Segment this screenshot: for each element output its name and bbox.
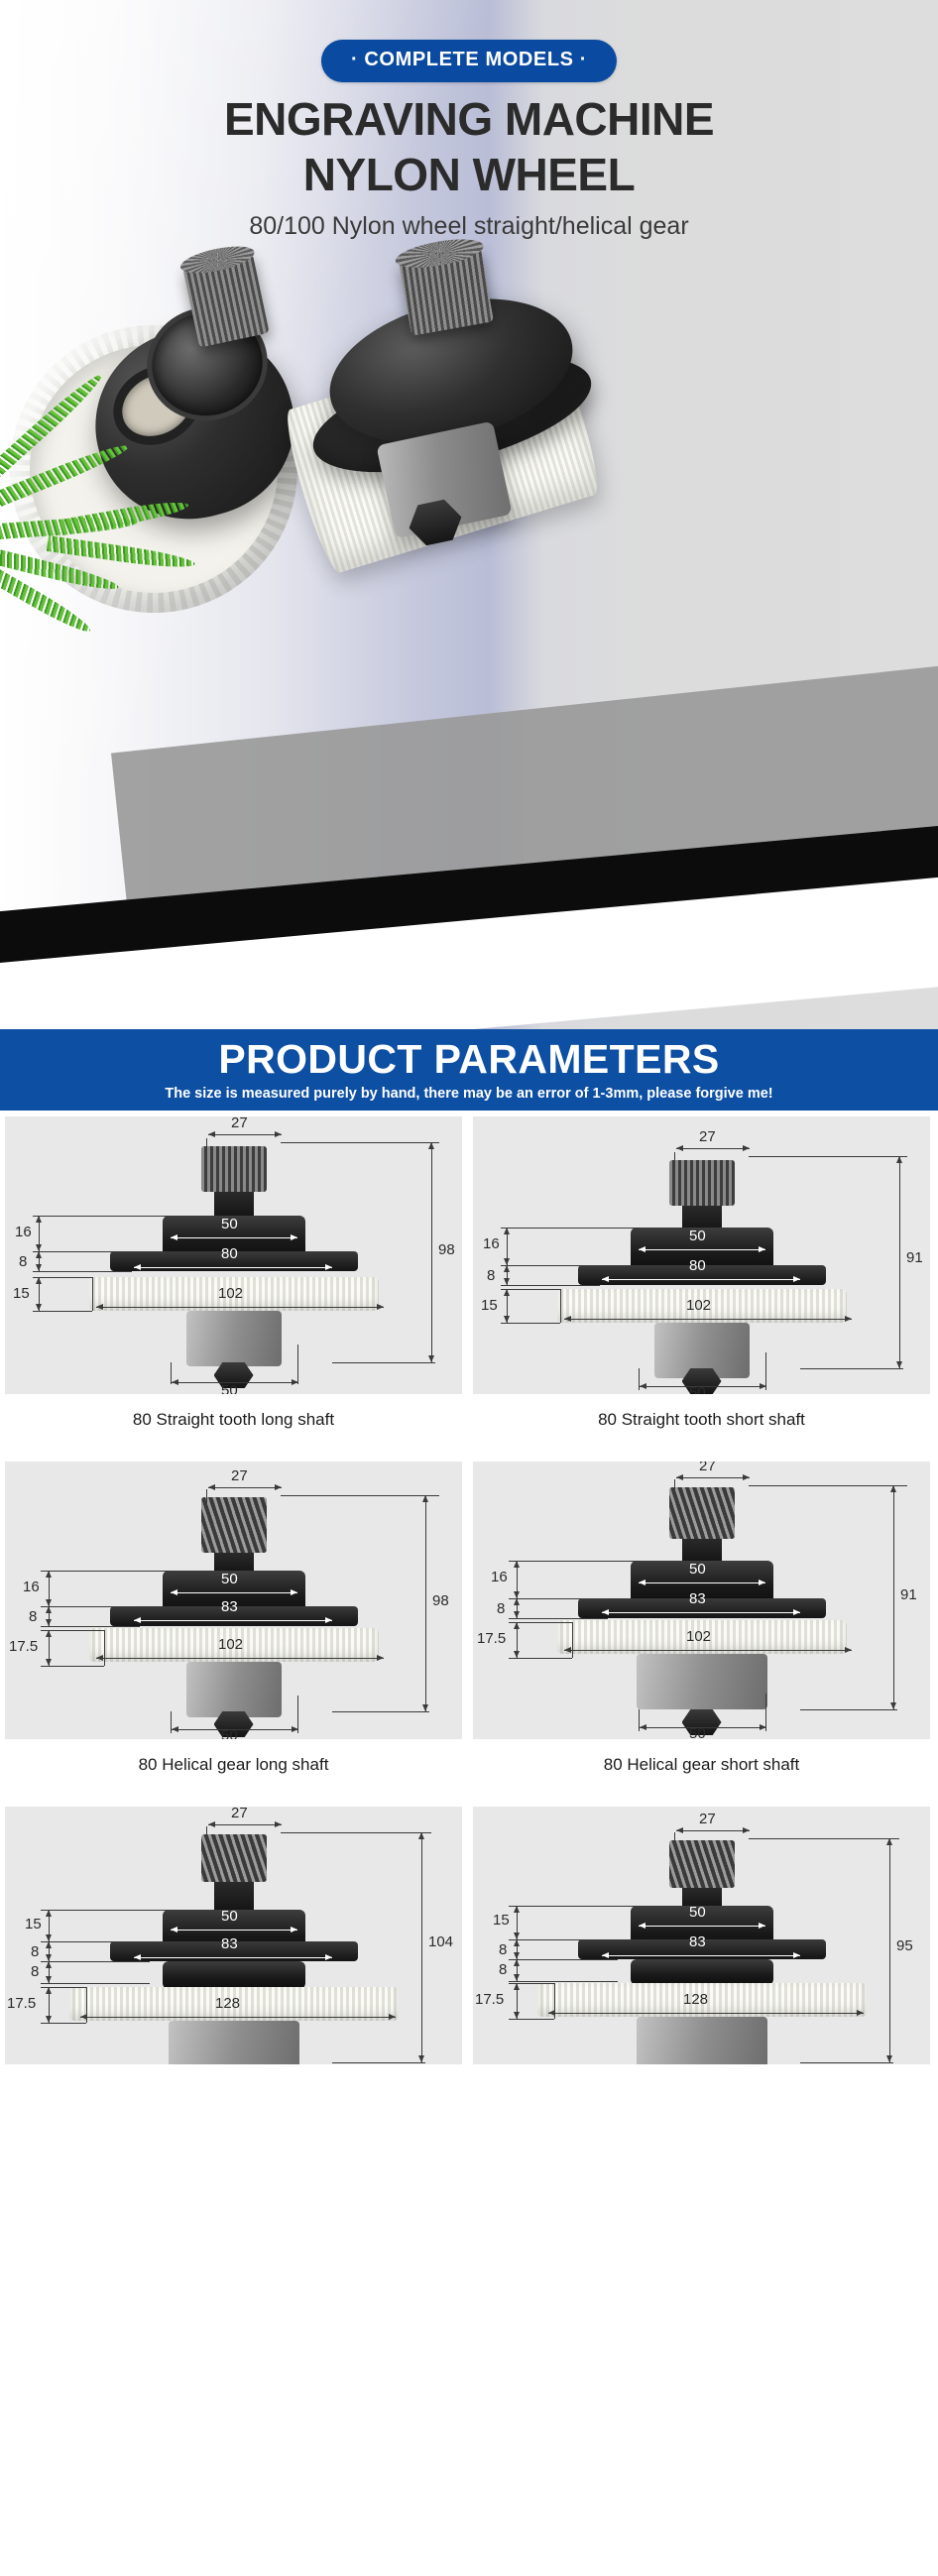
title-line-2: NYLON WHEEL [0, 147, 938, 202]
dim-pinion-width-1: 27 [231, 1116, 248, 1131]
dim-pinion-width-4: 27 [699, 1462, 716, 1474]
dim-pinion-width-6: 27 [699, 1811, 716, 1827]
dim-flange-height-3: 8 [29, 1608, 37, 1625]
dim-hub-diameter-4: 50 [689, 1561, 706, 1578]
dim-nylon-diameter-1: 102 [218, 1285, 243, 1302]
dim-hub-diameter-2: 50 [689, 1228, 706, 1244]
page-title: ENGRAVING MACHINE NYLON WHEEL [0, 91, 938, 202]
dim-hub-height-6: 15 [493, 1912, 510, 1929]
steel-pinion-left [182, 253, 269, 347]
dim-total-height-1: 98 [438, 1241, 455, 1258]
dim-nylon-height-3: 17.5 [9, 1638, 38, 1655]
dim-nylon-diameter-3: 102 [218, 1636, 243, 1653]
card-row-1: 27 50 80 102 16 8 [0, 1116, 938, 1452]
dimension-figure-3: 27 50 83 102 16 8 [5, 1462, 462, 1739]
product-parameters-banner: PRODUCT PARAMETERS The size is measured … [0, 1029, 938, 1111]
product-card-2: 27 50 80 102 16 8 [473, 1116, 930, 1452]
product-caption-1: 80 Straight tooth long shaft [5, 1394, 462, 1452]
dim-flange-diameter-5: 83 [221, 1935, 238, 1952]
product-card-4: 27 50 83 102 16 8 [473, 1462, 930, 1797]
dim-pinion-width-5: 27 [231, 1807, 248, 1821]
dim-total-height-6: 95 [896, 1937, 913, 1954]
dim-pinion-width-3: 27 [231, 1467, 248, 1484]
dim-flange-height-5: 8 [31, 1943, 39, 1960]
complete-models-badge: · COMPLETE MODELS · [321, 40, 617, 82]
dim-total-height-4: 91 [900, 1586, 917, 1603]
dim-hub-diameter-5: 50 [221, 1908, 238, 1925]
dimension-figure-6: 27 50 83 128 15 8 [473, 1807, 930, 2064]
dim-hub-height-3: 16 [23, 1579, 40, 1595]
dim-hub-diameter-3: 50 [221, 1571, 238, 1587]
dim-flange-height-1: 8 [19, 1253, 27, 1270]
dim-flange-height-6: 8 [499, 1941, 507, 1958]
product-listing-page: · COMPLETE MODELS · ENGRAVING MACHINE NY… [0, 0, 938, 2576]
dim-hub-height-4: 16 [491, 1569, 508, 1585]
dim-total-height-2: 91 [906, 1249, 923, 1266]
hero-product-photo [0, 248, 938, 1029]
dim-flange-diameter-2: 80 [689, 1257, 706, 1274]
dimension-figure-1: 27 50 80 102 16 8 [5, 1116, 462, 1394]
dim-hub-height-1: 16 [15, 1224, 32, 1240]
dim-base-width-1: 50 [221, 1382, 238, 1394]
dim-nylon-height-5: 17.5 [7, 1995, 36, 2012]
dim-nylon-height-1: 15 [13, 1285, 30, 1302]
card-row-2: 27 50 83 102 16 8 [0, 1462, 938, 1797]
parameter-card-grid: 27 50 80 102 16 8 [0, 1116, 938, 2074]
dim-flange-diameter-4: 83 [689, 1590, 706, 1607]
dimension-figure-2: 27 50 80 102 16 8 [473, 1116, 930, 1394]
dim-nylon-diameter-6: 128 [683, 1991, 708, 2008]
dim-pinion-width-2: 27 [699, 1128, 716, 1145]
card-row-3: 27 50 83 128 15 8 [0, 1807, 938, 2064]
title-line-1: ENGRAVING MACHINE [224, 93, 714, 145]
dim-base-width-4: 50 [689, 1725, 706, 1739]
product-card-6: 27 50 83 128 15 8 [473, 1807, 930, 2064]
banner-disclaimer: The size is measured purely by hand, the… [165, 1086, 772, 1102]
hero-subtitle: 80/100 Nylon wheel straight/helical gear [0, 212, 938, 241]
dim-nylon-height-2: 15 [481, 1297, 498, 1314]
dim-hub-height-5: 15 [25, 1916, 42, 1932]
dim-total-height-3: 98 [432, 1592, 449, 1609]
dim-nylon-height-6: 17.5 [475, 1991, 504, 2008]
hero-section: · COMPLETE MODELS · ENGRAVING MACHINE NY… [0, 0, 938, 1029]
product-caption-4: 80 Helical gear short shaft [473, 1739, 930, 1797]
dim-flange-diameter-3: 83 [221, 1598, 238, 1615]
steel-pinion-right [399, 247, 494, 335]
dimension-figure-5: 27 50 83 128 15 8 [5, 1807, 462, 2064]
product-card-5: 27 50 83 128 15 8 [5, 1807, 462, 2064]
dim-flange-diameter-6: 83 [689, 1933, 706, 1950]
dim-nylon-diameter-4: 102 [686, 1628, 711, 1645]
product-caption-3: 80 Helical gear long shaft [5, 1739, 462, 1797]
dim-total-height-5: 104 [428, 1933, 453, 1950]
dim-hub-diameter-6: 50 [689, 1904, 706, 1921]
dim-nylon-diameter-5: 128 [215, 1995, 240, 2012]
dim-flange-height2-5: 8 [31, 1963, 39, 1980]
dim-hub-height-2: 16 [483, 1235, 500, 1252]
dim-flange-height2-6: 8 [499, 1961, 507, 1978]
product-card-1: 27 50 80 102 16 8 [5, 1116, 462, 1452]
product-caption-2: 80 Straight tooth short shaft [473, 1394, 930, 1452]
dim-flange-diameter-1: 80 [221, 1245, 238, 1262]
dim-flange-height-2: 8 [487, 1267, 495, 1284]
dim-base-width-3: 50 [221, 1727, 238, 1739]
dim-flange-height-4: 8 [497, 1600, 505, 1617]
dimension-figure-4: 27 50 83 102 16 8 [473, 1462, 930, 1739]
dim-base-width-2: 50 [689, 1384, 706, 1394]
palm-leaf-decoration [0, 474, 198, 623]
dim-nylon-height-4: 17.5 [477, 1630, 506, 1647]
banner-title: PRODUCT PARAMETERS [218, 1038, 719, 1081]
dim-hub-diameter-1: 50 [221, 1216, 238, 1232]
product-card-3: 27 50 83 102 16 8 [5, 1462, 462, 1797]
dim-nylon-diameter-2: 102 [686, 1297, 711, 1314]
